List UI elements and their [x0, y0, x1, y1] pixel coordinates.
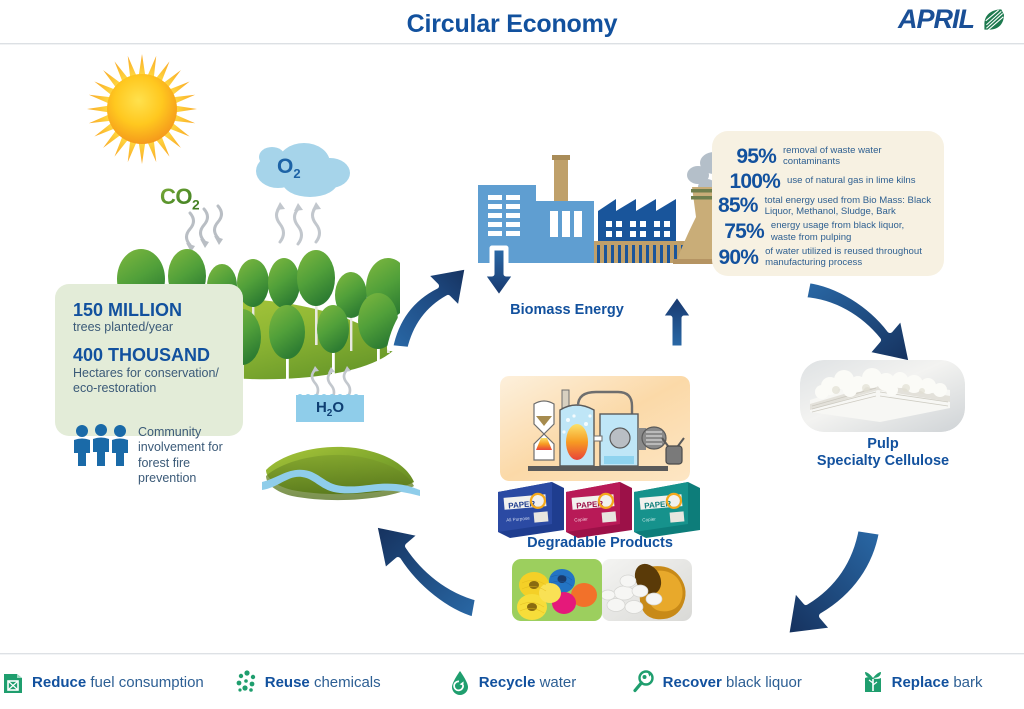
pulp-label-line2: Specialty Cellulose	[790, 453, 976, 470]
stat-row: 95% removal of waste water contaminants	[718, 145, 931, 168]
stat-row: 85% total energy used from Bio Mass: Bla…	[718, 195, 931, 218]
sun-icon	[82, 50, 202, 168]
hectares-label: Hectares for conservation/ eco-restorati…	[73, 366, 229, 397]
cloud-icon	[248, 141, 358, 203]
infographic-canvas: Circular Economy APRIL	[0, 0, 1024, 709]
trees-planted-value: 150 MILLION	[73, 300, 229, 320]
footer-label-reuse: Reuse chemicals	[265, 674, 381, 691]
arrow-up-icon	[655, 288, 699, 354]
three-people-icon	[72, 424, 130, 466]
mill-stats-panel: 95% removal of waste water contaminants …	[712, 131, 944, 276]
leaf-logo-icon	[979, 6, 1006, 33]
footer-item-recycle[interactable]: Recycle water	[410, 669, 615, 695]
pulp-label-line1: Pulp	[790, 436, 976, 453]
stat-description: total energy used from Bio Mass: Black L…	[765, 195, 931, 218]
header-bar: Circular Economy APRIL	[0, 0, 1024, 44]
footer-bar: Reduce fuel consumption Reuse chemicals	[0, 653, 1024, 709]
stat-description: of water utilized is reused throughout m…	[765, 246, 931, 269]
footer-item-reduce[interactable]: Reduce fuel consumption	[0, 669, 205, 695]
forest-stats-panel: 150 MILLION trees planted/year 400 THOUS…	[55, 284, 243, 436]
header-divider	[0, 43, 1024, 45]
arrow-down-icon	[476, 242, 522, 304]
footer-item-reuse[interactable]: Reuse chemicals	[205, 669, 410, 695]
paper-ream-blue: PAPER All Purpose	[498, 482, 564, 538]
stat-description: removal of waste water contaminants	[783, 145, 931, 168]
h2o-text: H2O	[316, 399, 344, 419]
stat-row: 90% of water utilized is reused througho…	[718, 246, 931, 269]
degradable-products-label: Degradable Products	[495, 535, 705, 552]
biomass-plant-image	[500, 376, 690, 481]
h2o-label-group: H2O	[296, 395, 364, 422]
tree-sprout-icon	[861, 669, 885, 695]
stat-percent: 90%	[718, 247, 758, 268]
pulp-label: Pulp Specialty Cellulose	[790, 436, 976, 470]
footer-label-recover: Recover black liquor	[663, 674, 802, 691]
stat-row: 100% use of natural gas in lime kilns	[718, 171, 931, 192]
arrow-down-left-icon	[760, 524, 890, 646]
degradable-products-image	[512, 559, 692, 621]
arrow-up-left-icon	[360, 516, 482, 628]
wave-edge-icon	[296, 391, 364, 397]
stat-percent: 75%	[718, 221, 764, 242]
five-r-list: Reduce fuel consumption Reuse chemicals	[0, 655, 1024, 709]
fuel-can-icon	[1, 669, 25, 695]
footer-item-recover[interactable]: Recover black liquor	[614, 669, 819, 695]
o2-label: O2	[277, 155, 301, 181]
paper-ream-teal: PAPER Copier	[634, 482, 700, 538]
river-landscape-illustration	[262, 438, 422, 510]
stat-description: use of natural gas in lime kilns	[787, 175, 916, 186]
stat-description: energy usage from black liquor, waste fr…	[771, 220, 931, 243]
trees-planted-label: trees planted/year	[73, 320, 229, 335]
pulp-cellulose-image	[800, 360, 965, 432]
page-title: Circular Economy	[0, 10, 1024, 39]
footer-label-replace: Replace bark	[892, 674, 983, 691]
stat-percent: 95%	[718, 146, 776, 167]
stat-percent: 85%	[718, 195, 758, 216]
stat-row: 75% energy usage from black liquor, wast…	[718, 220, 931, 243]
arrow-up-right-icon	[372, 252, 480, 352]
magnifier-icon	[632, 669, 656, 695]
footer-label-reduce: Reduce fuel consumption	[32, 674, 204, 691]
community-block: Community involvement for forest fire pr…	[72, 424, 247, 484]
footer-item-replace[interactable]: Replace bark	[819, 669, 1024, 695]
h2o-box: H2O	[296, 395, 364, 422]
brand-wordmark: APRIL	[898, 4, 974, 35]
paper-products-image: PAPER All Purpose PAPER Copier PAPER	[494, 474, 704, 542]
diagram-area: CO2 O2	[0, 46, 1024, 651]
community-text: Community involvement for forest fire pr…	[138, 424, 247, 486]
molecule-icon	[234, 669, 258, 695]
brand-logo: APRIL	[898, 4, 1006, 35]
stat-percent: 100%	[718, 171, 780, 192]
biomass-energy-label: Biomass Energy	[482, 302, 652, 319]
hectares-value: 400 THOUSAND	[73, 345, 229, 365]
footer-label-recycle: Recycle water	[479, 674, 577, 691]
paper-ream-magenta: PAPER Copier	[566, 482, 632, 538]
water-drop-icon	[448, 669, 472, 695]
